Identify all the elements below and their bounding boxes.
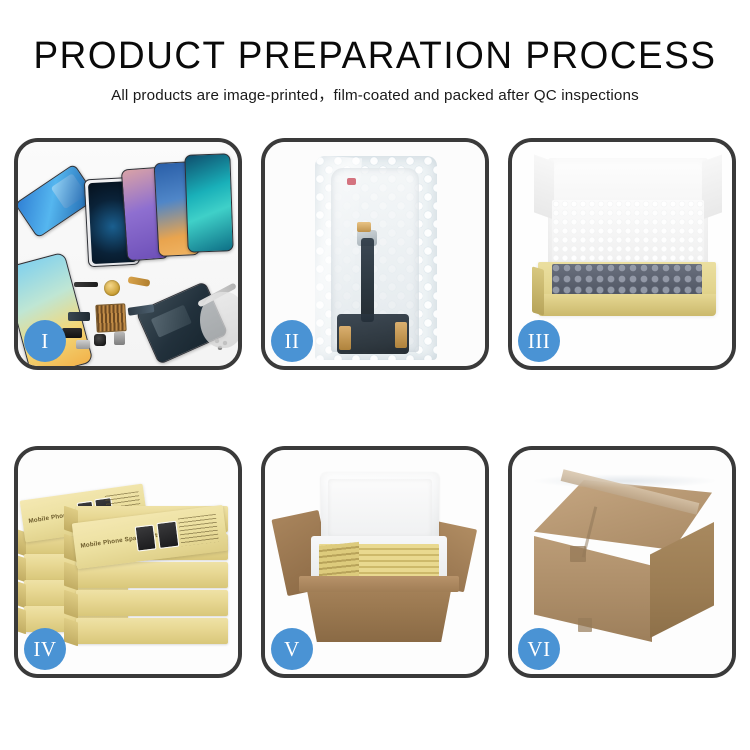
inner-box-front-wall — [538, 294, 716, 316]
foam-lid — [321, 472, 439, 544]
strip-part — [74, 282, 98, 287]
carton-tab-lower — [578, 618, 592, 632]
camera-module — [94, 334, 106, 346]
connector-gold-top — [357, 222, 371, 232]
stacked-box — [76, 618, 228, 644]
stacked-box — [76, 590, 228, 616]
chip-grid-part — [95, 303, 126, 333]
step-panel-1: I — [14, 138, 242, 370]
steps-grid: I II — [14, 138, 736, 678]
connector-gold-right — [395, 322, 407, 348]
label-sticker — [347, 178, 356, 185]
button-part — [114, 332, 125, 345]
header: PRODUCT PREPARATION PROCESS All products… — [0, 34, 750, 105]
carton-tab-upper — [570, 546, 586, 562]
sim-tray-part — [76, 340, 90, 349]
flex-cable-small — [68, 312, 90, 321]
step-panel-3: III — [508, 138, 736, 370]
step-badge-2: II — [271, 320, 313, 362]
box-print-text-lines — [178, 514, 219, 546]
hand — [200, 292, 238, 348]
coil-part — [104, 280, 120, 296]
step-panel-6: VI — [508, 446, 736, 678]
step-badge-3: III — [518, 320, 560, 362]
step-badge-4: IV — [24, 628, 66, 670]
inner-box-left-wall — [532, 266, 544, 315]
carton-front-flap — [299, 576, 459, 592]
step-panel-4: Mobile Phone Spare Parts Mobile Phone Sp… — [14, 446, 242, 678]
step-panel-5: V — [261, 446, 489, 678]
flex-cable-main — [361, 238, 374, 322]
carton-front-face — [534, 536, 652, 642]
step-badge-1: I — [24, 320, 66, 362]
page-title: PRODUCT PREPARATION PROCESS — [11, 34, 739, 78]
step-badge-5: V — [271, 628, 313, 670]
box-print-image — [135, 524, 157, 551]
product-preparation-infographic: PRODUCT PREPARATION PROCESS All products… — [0, 0, 750, 750]
step-badge-6: VI — [518, 628, 560, 670]
connector-gold-left — [339, 326, 351, 350]
phone-screen-teal — [184, 153, 233, 253]
page-subtitle: All products are image-printed，film-coat… — [0, 83, 750, 105]
wrapped-contents — [552, 264, 702, 298]
box-print-image — [156, 521, 179, 549]
flex-cable-gold — [128, 276, 151, 287]
step-panel-2: II — [261, 138, 489, 370]
